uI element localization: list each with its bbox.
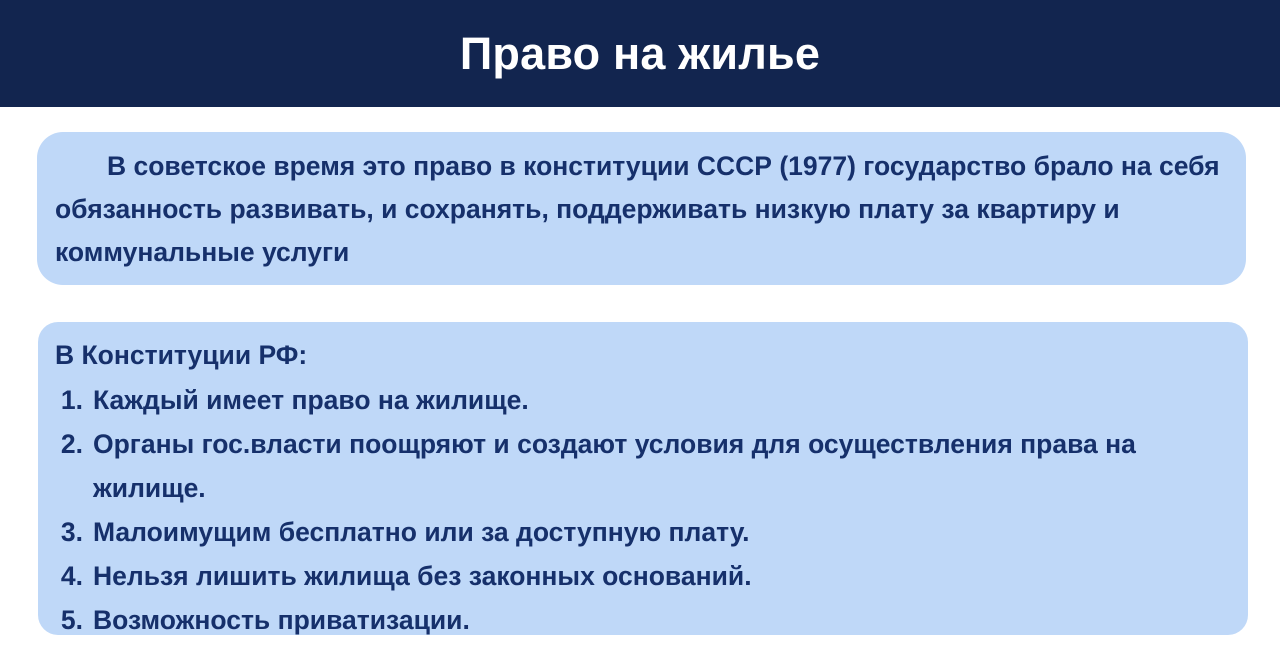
list-item-text: Малоимущим бесплатно или за доступную пл… bbox=[93, 510, 1234, 554]
list-item-number: 2. bbox=[55, 422, 93, 466]
list-item: 1. Каждый имеет право на жилище. bbox=[55, 378, 1234, 422]
list-item-text: Каждый имеет право на жилище. bbox=[93, 378, 1234, 422]
soviet-era-paragraph: В советское время это право в конституци… bbox=[55, 145, 1230, 274]
list-item-number: 4. bbox=[55, 554, 93, 598]
constitution-heading: В Конституции РФ: bbox=[55, 334, 1234, 377]
list-item: 2. Органы гос.власти поощряют и создают … bbox=[55, 422, 1234, 510]
constitution-card: В Конституции РФ: 1. Каждый имеет право … bbox=[38, 322, 1248, 635]
list-item-number: 5. bbox=[55, 598, 93, 642]
constitution-list: 1. Каждый имеет право на жилище. 2. Орга… bbox=[55, 378, 1234, 642]
list-item-number: 1. bbox=[55, 378, 93, 422]
list-item: 5. Возможность приватизации. bbox=[55, 598, 1234, 642]
list-item-text: Нельзя лишить жилища без законных основа… bbox=[93, 554, 1234, 598]
slide-title-bar: Право на жилье bbox=[0, 0, 1280, 107]
list-item: 4. Нельзя лишить жилища без законных осн… bbox=[55, 554, 1234, 598]
soviet-era-card: В советское время это право в конституци… bbox=[37, 132, 1246, 285]
list-item: 3. Малоимущим бесплатно или за доступную… bbox=[55, 510, 1234, 554]
list-item-text: Возможность приватизации. bbox=[93, 598, 1234, 642]
list-item-text: Органы гос.власти поощряют и создают усл… bbox=[93, 422, 1234, 510]
page-title: Право на жилье bbox=[460, 31, 820, 76]
list-item-number: 3. bbox=[55, 510, 93, 554]
